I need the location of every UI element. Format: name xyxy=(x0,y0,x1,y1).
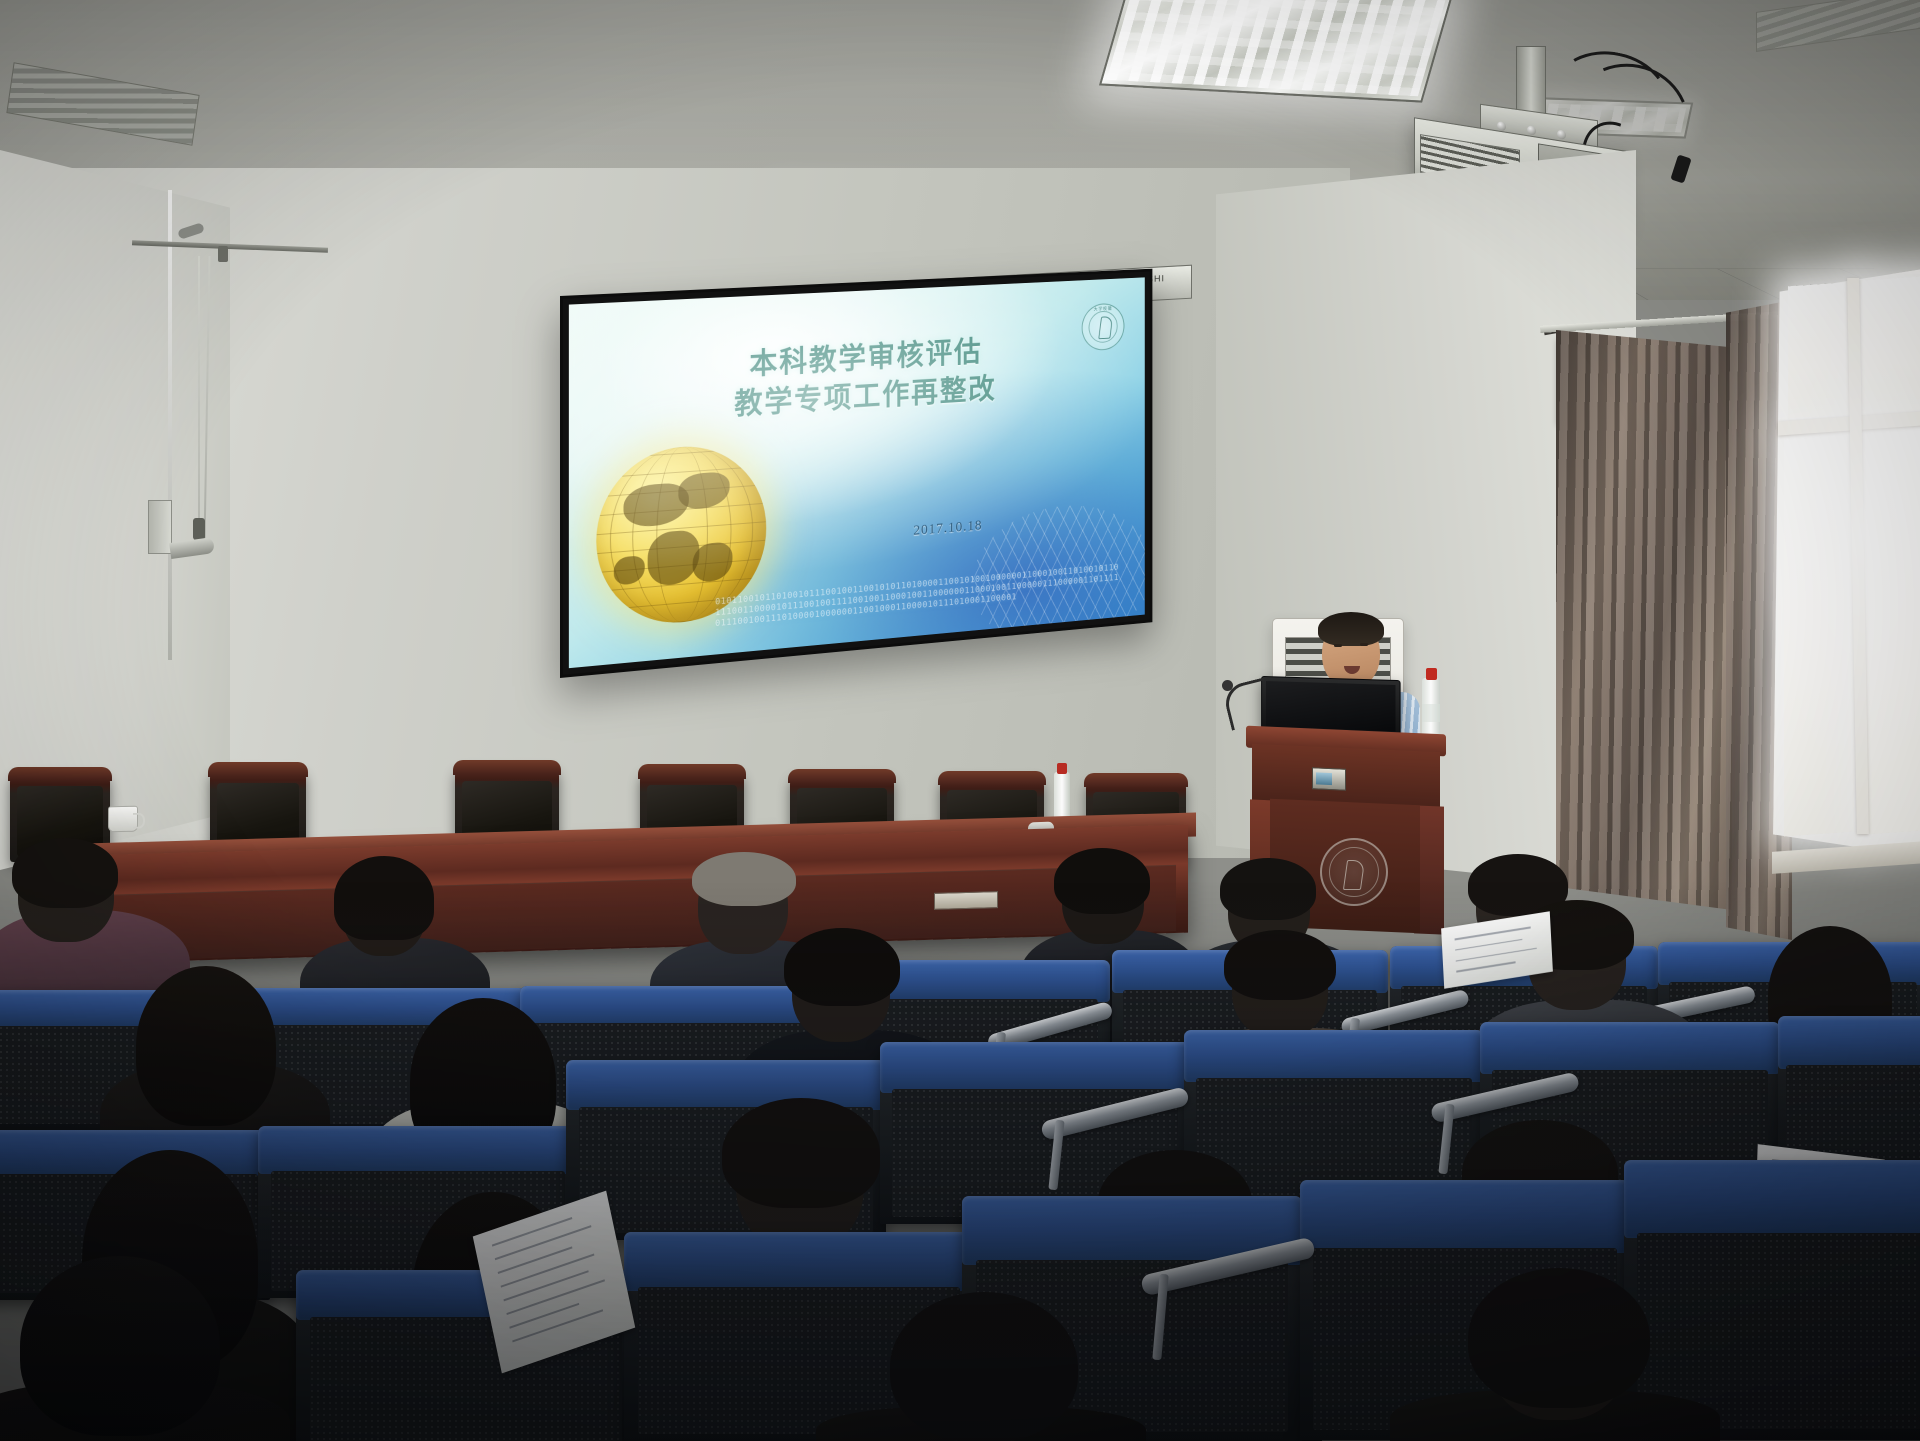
dais-nameplate xyxy=(934,891,998,910)
microphone-head-icon xyxy=(1222,680,1233,691)
wall-corner-edge xyxy=(168,190,172,660)
audience-person xyxy=(816,1296,1146,1441)
curtain-rail-hook xyxy=(218,246,228,262)
window-pane xyxy=(1862,425,1920,834)
white-mug xyxy=(108,806,138,833)
lecture-hall-photo: MITSUBISHI xyxy=(0,0,1920,1441)
water-bottle xyxy=(1422,678,1440,738)
window-pane xyxy=(1862,275,1920,416)
slide-title: 本科教学审核评估 教学专项工作再整改 xyxy=(569,326,1145,434)
left-wall xyxy=(0,150,230,870)
projection-screen-assembly: MITSUBISHI xyxy=(560,282,1220,742)
wall-plate xyxy=(148,500,172,554)
binary-digits-graphic: 0101100101101001011100100110010101101000… xyxy=(715,563,1123,653)
window-pane xyxy=(1788,282,1854,419)
audience-person xyxy=(0,1262,290,1441)
slide-surface: 0101100101101001011100100110010101101000… xyxy=(569,277,1145,668)
pull-cord-weight xyxy=(193,518,205,540)
audience-person xyxy=(1390,1270,1720,1441)
presenter-hair xyxy=(1318,612,1384,646)
projection-screen: 0101100101101001011100100110010101101000… xyxy=(560,269,1152,678)
presenter-eye xyxy=(1360,643,1368,646)
projector-mount-pole xyxy=(1516,46,1546,118)
slide-date: 2017.10.18 xyxy=(913,518,982,540)
screen-pull-cord[interactable] xyxy=(198,256,200,536)
podium-control-panel[interactable] xyxy=(1312,767,1346,790)
window-pane xyxy=(1784,432,1854,837)
presenter-eye xyxy=(1334,644,1342,647)
curtain-left-panel xyxy=(1556,330,1732,910)
window xyxy=(1770,268,1920,858)
